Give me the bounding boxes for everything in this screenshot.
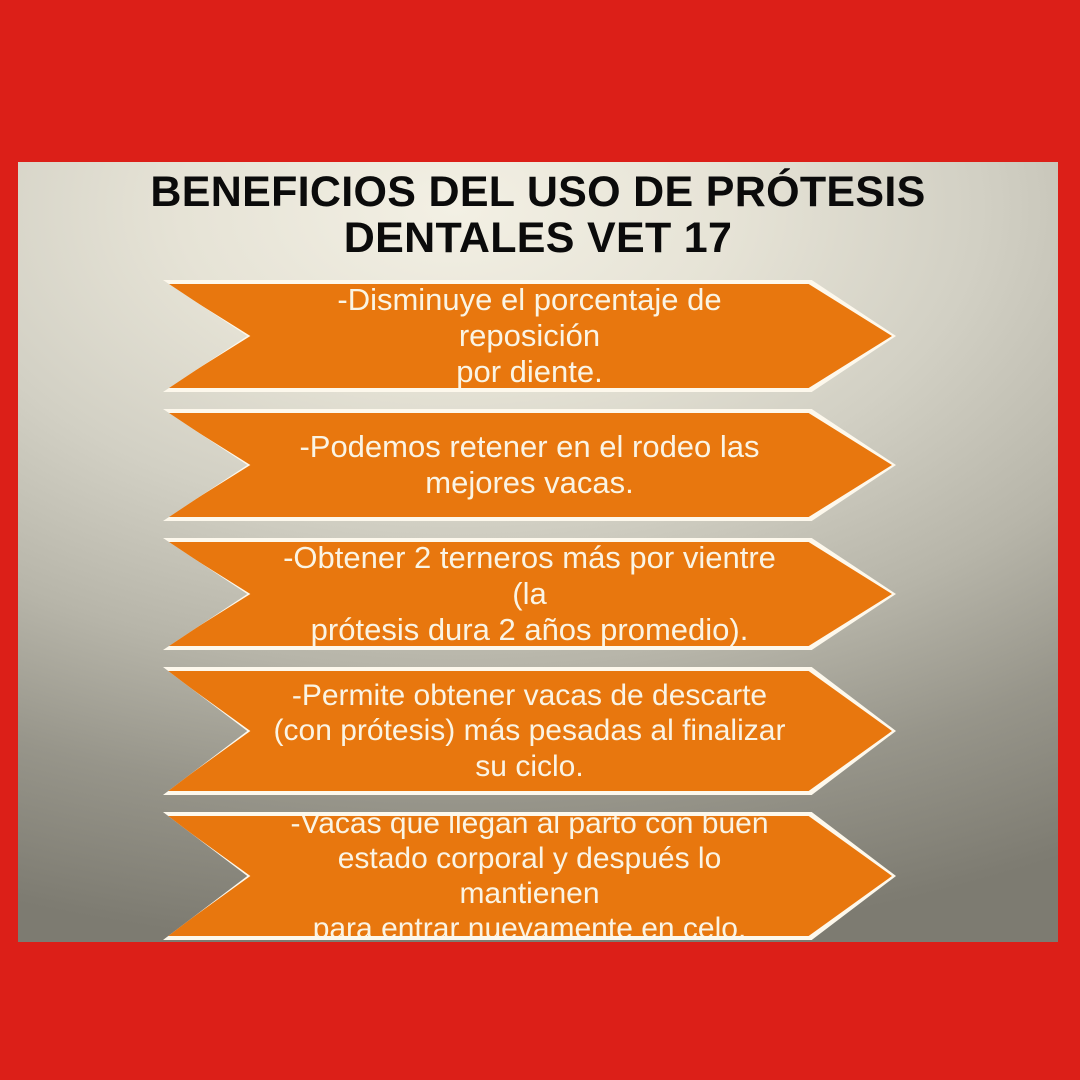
page-title: BENEFICIOS DEL USO DE PRÓTESIS DENTALES … xyxy=(18,170,1058,261)
benefit-chevron-4: -Permite obtener vacas de descarte (con … xyxy=(163,667,896,795)
slide-canvas: BENEFICIOS DEL USO DE PRÓTESIS DENTALES … xyxy=(18,162,1058,942)
benefit-chevron-4-label: -Permite obtener vacas de descarte (con … xyxy=(169,678,891,783)
page-title-line-1: BENEFICIOS DEL USO DE PRÓTESIS xyxy=(18,170,1058,216)
benefit-chevron-2-label: -Podemos retener en el rodeo las mejores… xyxy=(194,429,864,502)
benefit-chevron-5-fill: -Vacas que llegan al parto con buen esta… xyxy=(167,816,892,936)
benefit-chevron-3: -Obtener 2 terneros más por vientre (la … xyxy=(163,538,896,650)
benefits-chevron-list: -Disminuye el porcentaje de reposición p… xyxy=(163,280,896,940)
benefit-chevron-5: -Vacas que llegan al parto con buen esta… xyxy=(163,812,896,940)
page-title-line-2: DENTALES VET 17 xyxy=(18,216,1058,262)
benefit-chevron-5-label: -Vacas que llegan al parto con buen esta… xyxy=(167,806,892,942)
benefit-chevron-1-label: -Disminuye el porcentaje de reposición p… xyxy=(167,282,892,391)
benefit-chevron-2: -Podemos retener en el rodeo las mejores… xyxy=(163,409,896,521)
benefit-chevron-1: -Disminuye el porcentaje de reposición p… xyxy=(163,280,896,392)
benefit-chevron-1-fill: -Disminuye el porcentaje de reposición p… xyxy=(167,284,892,388)
benefit-chevron-2-fill: -Podemos retener en el rodeo las mejores… xyxy=(167,413,892,517)
benefit-chevron-4-fill: -Permite obtener vacas de descarte (con … xyxy=(167,671,892,791)
benefit-chevron-3-label: -Obtener 2 terneros más por vientre (la … xyxy=(167,540,892,649)
benefit-chevron-3-fill: -Obtener 2 terneros más por vientre (la … xyxy=(167,542,892,646)
